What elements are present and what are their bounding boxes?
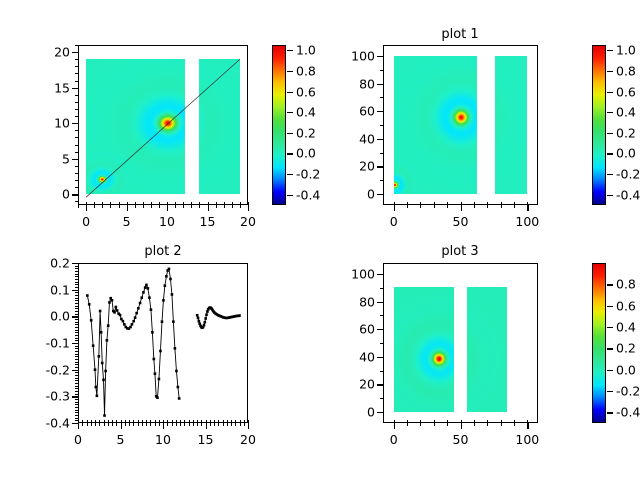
panel-bottom-right-xtick-2: 100 — [515, 432, 539, 447]
panel-bottom-right-ytick-5: 100 — [317, 267, 375, 282]
panel-bottom-right-xtick-1: 50 — [453, 432, 469, 447]
panel-bottom-right-cbtick-3: 0.2 — [616, 341, 636, 356]
panel-bottom-right-title: plot 3 — [400, 244, 520, 259]
panel-bottom-right-cbtick-2: 0.4 — [616, 320, 636, 335]
panel-bottom-right-ytick-1: 20 — [317, 377, 375, 392]
panel-bottom-right-cbtick-1: 0.6 — [616, 298, 636, 313]
panel-bottom-right-xtick-0: 0 — [390, 432, 398, 447]
panel-bottom-right-ytick-0: 0 — [317, 405, 375, 420]
panel-bottom-right-heatmap — [383, 263, 538, 423]
panel-bottom-right-cbtick-4: 0.0 — [616, 362, 636, 377]
panel-bottom-right-ytick-4: 80 — [317, 294, 375, 309]
panel-bottom-right-cbtick-5: -0.2 — [616, 384, 640, 399]
panel-bottom-right: plot 30501000204060801000.80.60.40.20.0-… — [0, 0, 640, 480]
panel-bottom-right-cbtick-0: 0.8 — [616, 277, 636, 292]
panel-bottom-right-ytick-2: 40 — [317, 349, 375, 364]
panel-bottom-right-colorbar — [592, 263, 606, 423]
figure-canvas: 05101520051015201.00.80.60.40.20.0-0.2-0… — [0, 0, 640, 480]
panel-bottom-right-ytick-3: 60 — [317, 322, 375, 337]
panel-bottom-right-cbtick-6: -0.4 — [616, 405, 640, 420]
